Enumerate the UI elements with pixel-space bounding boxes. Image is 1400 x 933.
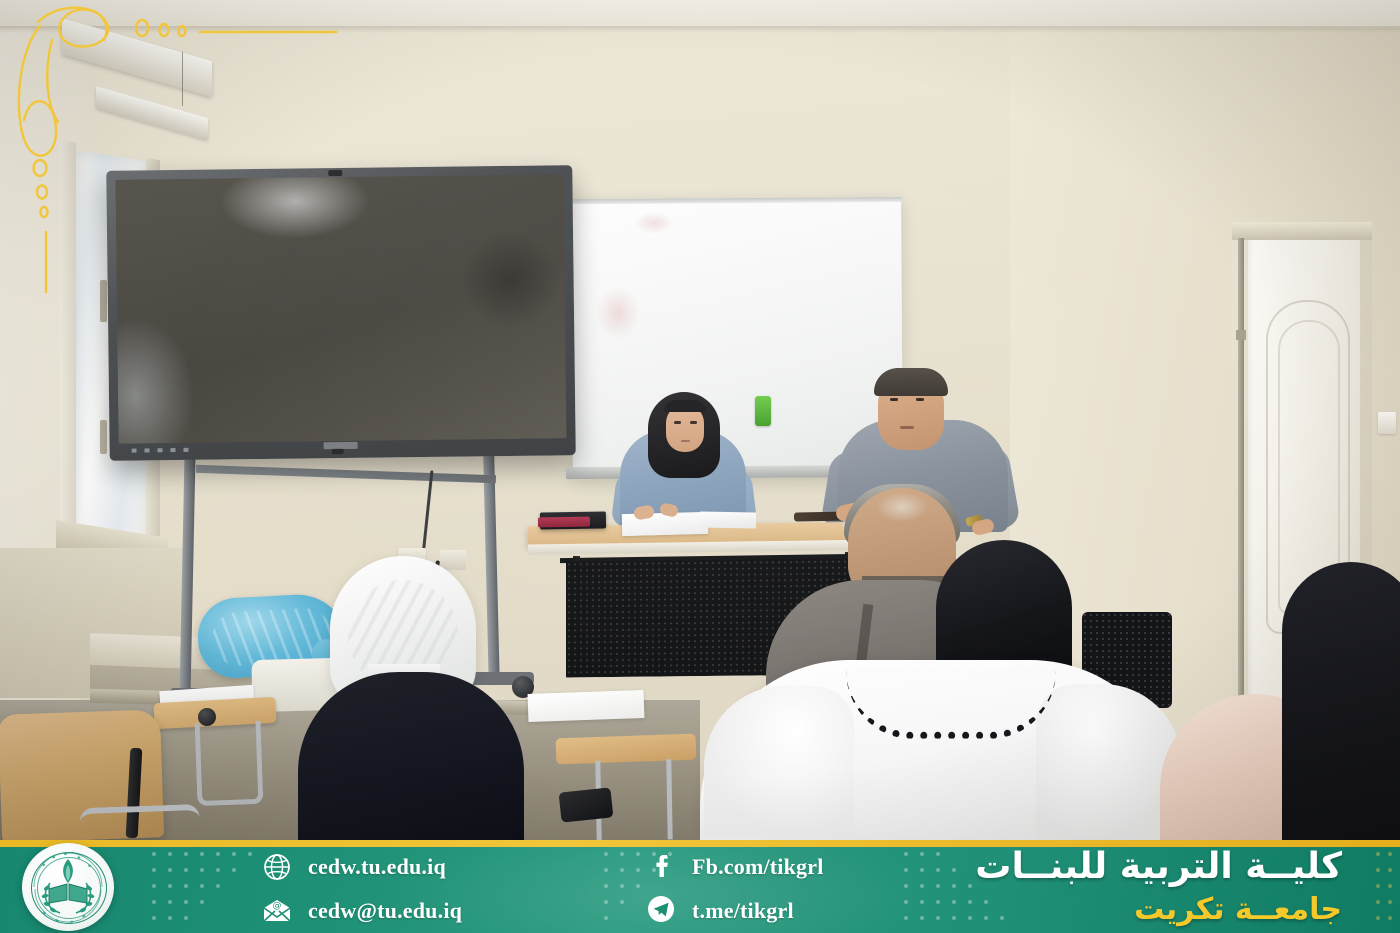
wall-switch (1378, 412, 1396, 434)
ceiling-shadow (0, 26, 1400, 33)
blind-cord (182, 52, 183, 106)
display-button-row (132, 448, 196, 453)
whiteboard-marker-residue-2 (634, 212, 674, 234)
globe-icon[interactable] (262, 852, 292, 882)
seal-emblem (22, 843, 114, 931)
event-photograph (0, 0, 1400, 840)
green-marker-icon (755, 396, 771, 426)
mobile-phone (559, 787, 614, 822)
presenter-woman-hairline (664, 400, 706, 412)
door-lintel (1232, 222, 1372, 240)
window-latch-upper (100, 280, 107, 322)
brand-name-arabic: كليــة التربية للبنــات (975, 846, 1342, 887)
website-label[interactable]: cedw.tu.edu.iq (308, 854, 446, 880)
svg-text:@: @ (273, 901, 282, 911)
facebook-icon[interactable] (648, 850, 678, 880)
chair-desk-papers-center (528, 690, 645, 722)
university-seal-logo (22, 843, 114, 931)
presenter-woman-eye-right (690, 421, 697, 424)
display-brand-logo (324, 442, 358, 449)
conduit-junction (1236, 330, 1246, 340)
email-label[interactable]: cedw@tu.edu.iq (308, 898, 462, 924)
ceiling (0, 0, 1400, 28)
presenter-woman-eye-left (674, 421, 681, 424)
wooden-chair-frame-left (79, 804, 200, 840)
photo-post-canvas: @ cedw.tu.edu.iq cedw@tu.edu.iq Fb.com/t… (0, 0, 1400, 933)
telegram-icon[interactable] (646, 894, 676, 924)
wall-conduit (1238, 238, 1244, 708)
window-latch-lower (100, 420, 107, 454)
dot-matrix-decoration-edge (1372, 848, 1398, 928)
presenter-man-hair (874, 368, 948, 396)
document-folder-red-band (538, 517, 590, 528)
display-camera-icon (328, 170, 342, 176)
presenter-woman-mouth (681, 440, 690, 442)
presenter-man-eye-left (890, 398, 898, 401)
window-mullion-left (60, 140, 76, 563)
facebook-label[interactable]: Fb.com/tikgrl (692, 854, 824, 880)
university-name-arabic: جامعــة تكريت (1134, 892, 1342, 927)
envelope-icon[interactable]: @ (262, 896, 292, 926)
display-screen (115, 174, 566, 443)
dot-matrix-decoration-left (148, 848, 268, 928)
attendee-grey-suit-hair-highlight (876, 492, 928, 522)
attendee-white-blouse-collar-trim (846, 670, 1056, 738)
attendee-black-abaya (1282, 562, 1400, 840)
presenter-man-mouth (900, 426, 914, 429)
wall-socket-secondary (440, 550, 466, 570)
whiteboard-marker-residue (596, 286, 640, 340)
telegram-label[interactable]: t.me/tikgrl (692, 898, 794, 924)
paper-stack-secondary (700, 512, 756, 529)
attendee-white-blouse-shoulder-left (704, 686, 854, 836)
interactive-flat-panel (106, 165, 576, 461)
attendee-white-hijab-body (298, 672, 524, 840)
presenter-man-eye-right (916, 398, 924, 401)
chair-desk-legs-left (195, 721, 264, 806)
